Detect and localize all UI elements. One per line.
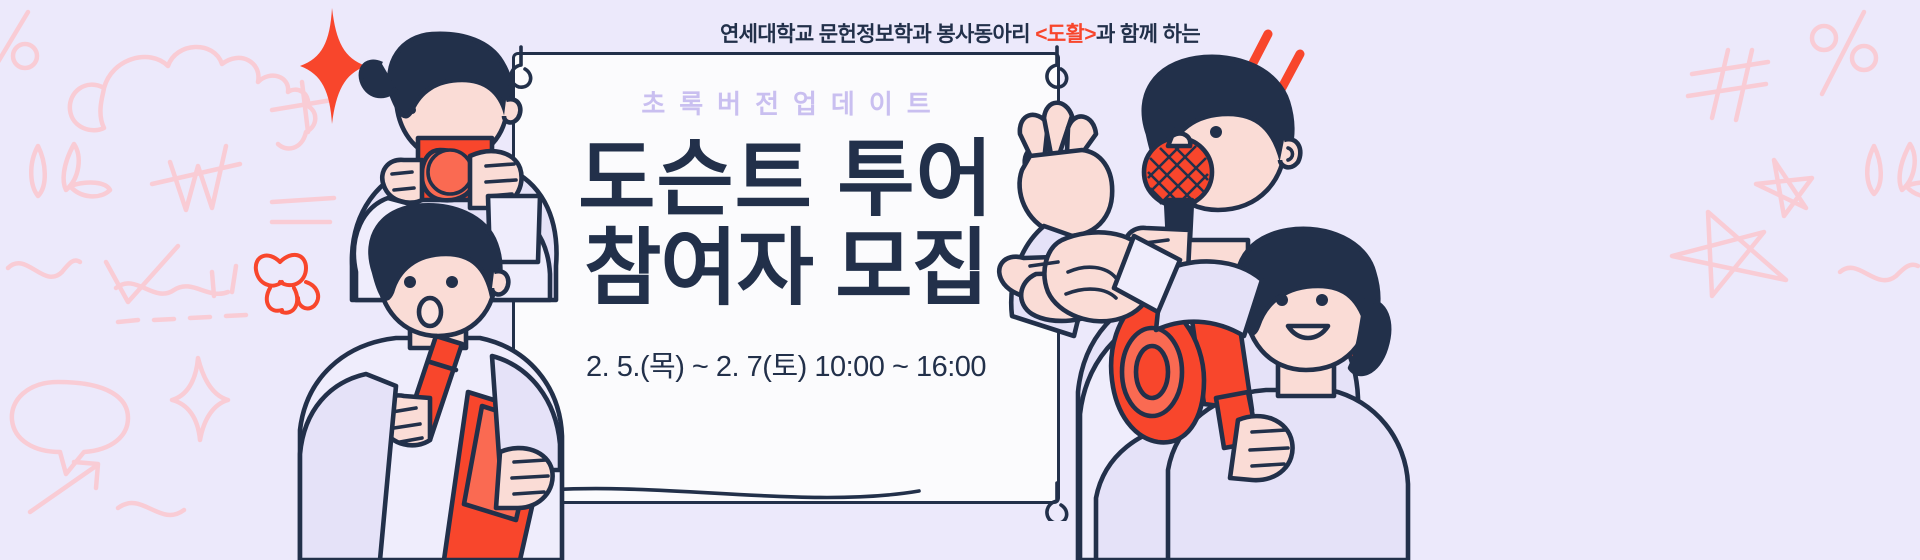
sparkle-burst-doodle-right <box>1867 144 1920 196</box>
plus-doodle <box>272 82 332 132</box>
cloud-doodle <box>70 47 315 149</box>
w-scribble-doodle <box>152 146 240 210</box>
arrow-doodle <box>30 462 98 512</box>
poster-date-time: 2. 5.(목) ~ 2. 7(토) 10:00 ~ 16:00 <box>586 343 986 385</box>
poster-kicker: 초록버전업데이트 <box>627 90 944 119</box>
sparkle-diamond-doodle <box>172 358 228 440</box>
sparkle-burst-doodle <box>31 144 110 196</box>
hash-doodle <box>1688 50 1768 120</box>
red-streaks-lower-right <box>1302 318 1364 378</box>
tilde-doodle <box>8 260 80 276</box>
sign-hook-right <box>1047 47 1067 87</box>
headline-prefix: 연세대학교 문헌정보학과 봉사동아리 <box>720 23 1035 46</box>
dashed-line-doodle <box>118 315 246 322</box>
check-doodle <box>106 246 178 302</box>
tilde-doodle-right <box>1840 265 1918 280</box>
banner-headline: 연세대학교 문헌정보학과 봉사동아리 <도활>과 함께 하는 <box>0 18 1920 48</box>
star-doodle-big <box>1672 212 1786 296</box>
star-doodle-small <box>1756 160 1812 216</box>
sign-bottom-hook <box>1047 483 1067 521</box>
headline-accent: <도활> <box>1035 23 1096 46</box>
equals-doodle <box>272 198 334 222</box>
event-banner: 초록버전업데이트 도슨트 투어 참여자 모집 2. 5.(목) ~ 2. 7(토… <box>0 0 1920 560</box>
speech-bubble-doodle <box>12 382 128 474</box>
poster-title-line2: 참여자 모집 <box>578 224 994 313</box>
poster-title-line1: 도슨트 투어 <box>578 135 994 224</box>
small-sparkle-doodle <box>212 266 236 296</box>
poster-title: 도슨트 투어 참여자 모집 <box>578 135 994 313</box>
sign-hook-left <box>511 47 531 87</box>
red-flower-doodle <box>256 255 318 313</box>
sign-bottom-curve <box>515 489 919 498</box>
squiggle-doodle <box>118 503 184 515</box>
wave-doodle <box>116 283 228 293</box>
headline-suffix: 과 함께 하는 <box>1096 23 1200 46</box>
